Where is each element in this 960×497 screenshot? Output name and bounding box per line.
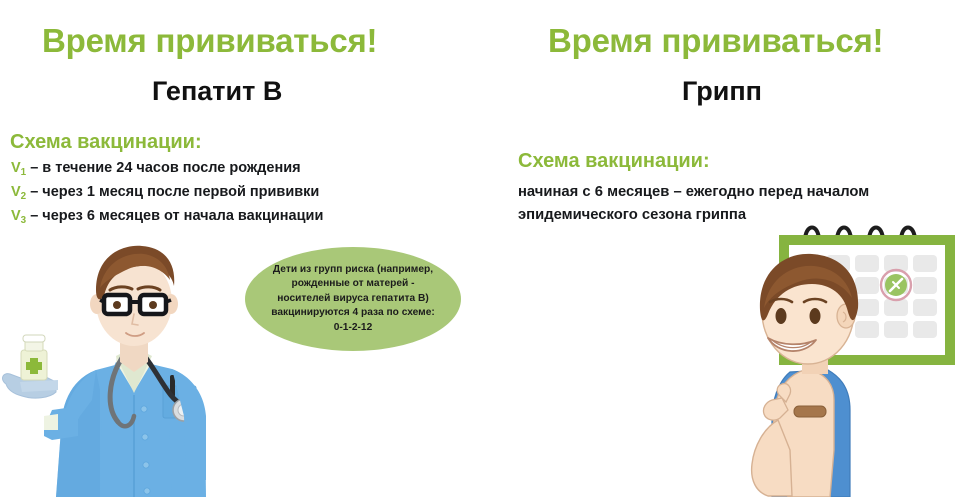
left-scheme-heading: Схема вакцинации: <box>10 131 202 154</box>
scheme-text-v1: – в течение 24 часов после рождения <box>30 160 300 176</box>
right-banner-title: Время прививаться! <box>548 22 883 60</box>
calendar-cell <box>913 255 937 272</box>
scheme-text-v3: – через 6 месяцев от начала вакцинации <box>30 208 323 224</box>
calendar-cell <box>913 321 937 338</box>
flu-scheme-line-1: начиная с 6 месяцев – ежегодно перед нач… <box>518 184 869 200</box>
boy-eye-left <box>776 308 787 324</box>
scheme-index-v2: 2 <box>21 191 26 202</box>
right-disease-title: Грипп <box>682 76 762 107</box>
calendar-cell <box>913 299 937 316</box>
scheme-code-v2: V2 <box>11 184 26 200</box>
scheme-index-v1: 1 <box>21 167 26 178</box>
doctor-palm <box>20 380 58 392</box>
scheme-index-v3: 3 <box>21 215 26 226</box>
doctor-coat-button <box>144 488 150 494</box>
left-disease-title: Гепатит B <box>152 76 282 107</box>
doctor-coat-button <box>142 434 148 440</box>
doctor-cuff <box>44 414 58 430</box>
scheme-text-v2: – через 1 месяц после первой прививки <box>30 184 319 200</box>
scheme-line-v3: V3 – через 6 месяцев от начала вакцинаци… <box>11 208 323 224</box>
calendar-cell <box>913 277 937 294</box>
panel-hepatitis-b: Время прививаться! Гепатит B Схема вакци… <box>0 0 480 497</box>
boy-illustration <box>742 250 902 497</box>
medicine-bottle-cap <box>23 335 45 342</box>
scheme-line-v2: V2 – через 1 месяц после первой прививки <box>11 184 319 200</box>
scheme-line-v1: V1 – в течение 24 часов после рождения <box>11 160 301 176</box>
scheme-code-v1: V1 <box>11 160 26 176</box>
doctor-eye-right <box>149 301 157 309</box>
bandage-icon <box>794 406 826 417</box>
boy-eye-right <box>810 308 821 324</box>
risk-group-callout: Дети из групп риска (например, рожденные… <box>245 247 461 351</box>
doctor-illustration <box>0 240 250 497</box>
left-banner-title: Время прививаться! <box>42 22 377 60</box>
panel-influenza: Время прививаться! Грипп Схема вакцинаци… <box>480 0 960 497</box>
scheme-code-v3: V3 <box>11 208 26 224</box>
doctor-eye-left <box>113 301 121 309</box>
right-scheme-heading: Схема вакцинации: <box>518 150 710 173</box>
doctor-coat-button <box>141 406 147 412</box>
risk-group-callout-text: Дети из групп риска (например, рожденные… <box>268 263 438 335</box>
flu-scheme-line-2: эпидемического сезона гриппа <box>518 207 746 223</box>
poster-root: Время прививаться! Гепатит B Схема вакци… <box>0 0 960 497</box>
doctor-coat-button <box>143 462 149 468</box>
